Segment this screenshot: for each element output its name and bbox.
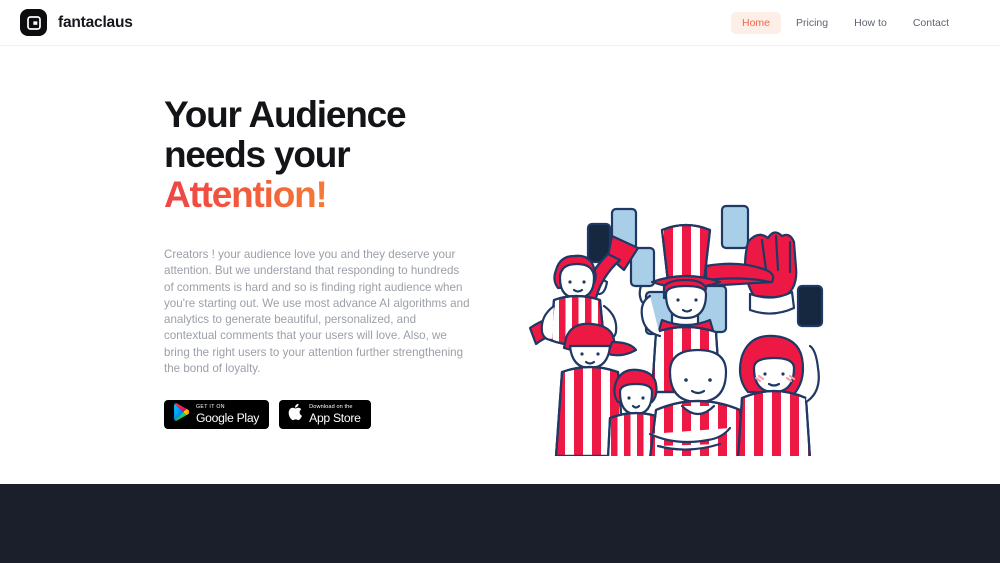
hero-title-line-2: needs your	[164, 134, 349, 175]
hero-section: Your Audience needs your Attention! Crea…	[0, 46, 1000, 484]
hero-copy: Your Audience needs your Attention! Crea…	[164, 95, 484, 429]
hero-illustration	[520, 196, 850, 456]
hero-title-accent: Attention!	[164, 174, 327, 215]
google-play-big-label: Google Play	[196, 412, 259, 424]
site-header: fantaclaus Home Pricing How to Contact	[0, 0, 1000, 46]
app-store-big-label: App Store	[309, 412, 361, 424]
google-play-badge[interactable]: GET IT ON Google Play	[164, 400, 269, 429]
brand-name: fantaclaus	[58, 14, 133, 32]
app-store-small-label: Download on the	[309, 405, 361, 411]
hero-title-line-1: Your Audience	[164, 94, 405, 135]
app-store-badge[interactable]: Download on the App Store	[279, 400, 371, 429]
google-play-labels: GET IT ON Google Play	[196, 405, 259, 424]
fantaclaus-f-square-icon	[20, 9, 47, 36]
google-play-small-label: GET IT ON	[196, 405, 259, 410]
brand-logo[interactable]: fantaclaus	[20, 9, 133, 36]
primary-navigation: Home Pricing How to Contact	[731, 12, 960, 34]
nav-link-pricing[interactable]: Pricing	[785, 12, 839, 34]
app-store-labels: Download on the App Store	[309, 405, 361, 424]
store-badges: GET IT ON Google Play Download on the Ap…	[164, 400, 484, 429]
google-play-triangle-icon	[173, 403, 190, 426]
hero-paragraph: Creators ! your audience love you and th…	[164, 247, 470, 377]
footer-band	[0, 484, 1000, 563]
nav-link-contact[interactable]: Contact	[902, 12, 960, 34]
nav-link-home[interactable]: Home	[731, 12, 781, 34]
landing-page: fantaclaus Home Pricing How to Contact Y…	[0, 0, 1000, 563]
page-title: Your Audience needs your Attention!	[164, 95, 484, 215]
nav-link-how-to[interactable]: How to	[843, 12, 898, 34]
apple-logo-icon	[288, 403, 303, 426]
